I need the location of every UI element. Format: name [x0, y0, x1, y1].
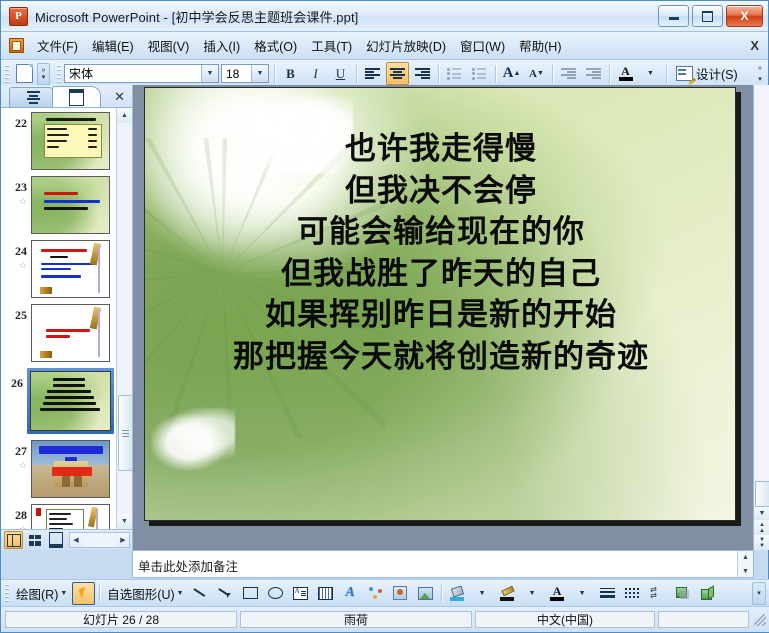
chevron-down-icon: ▼: [60, 590, 67, 597]
draw-font-color-dropdown[interactable]: ▼: [571, 582, 594, 605]
align-right-icon: [415, 68, 430, 80]
separator: [666, 65, 667, 83]
status-design-template: 雨荷: [240, 611, 472, 628]
menu-item-format[interactable]: 格式(O): [247, 32, 304, 59]
arrow-style-button[interactable]: ⇄⇄: [646, 582, 669, 605]
diagram-icon: [369, 587, 382, 599]
bullets-icon: [472, 68, 487, 80]
close-document-button[interactable]: X: [750, 38, 759, 53]
scrollbar-thumb[interactable]: [118, 395, 132, 471]
normal-view-icon: [7, 534, 21, 547]
bold-button[interactable]: B: [279, 62, 302, 85]
scroll-right-icon[interactable]: ▶: [117, 536, 129, 544]
separator: [441, 584, 442, 602]
picture-icon: [418, 587, 433, 600]
menu-bar: 文件(F) 编辑(E) 视图(V) 插入(I) 格式(O) 工具(T) 幻灯片放…: [1, 32, 768, 60]
minimize-button[interactable]: [658, 5, 689, 27]
align-left-icon: [365, 68, 380, 80]
align-right-button[interactable]: [411, 62, 434, 85]
separator: [495, 65, 496, 83]
line-tool-button[interactable]: [189, 582, 212, 605]
oval-tool-button[interactable]: [264, 582, 287, 605]
autoshapes-menu-button[interactable]: 自选图形(U) ▼: [103, 582, 187, 605]
notes-scroll-down-icon[interactable]: ▼: [738, 565, 753, 577]
slide-number: 24: [15, 244, 27, 258]
formatting-toolbar: »▾ 宋体 ▼ 18 ▼ B I U A▲ A▼ A: [1, 60, 768, 88]
toolbar-options-button[interactable]: »▾: [37, 63, 50, 85]
numbering-icon: [447, 68, 462, 80]
separator: [552, 65, 553, 83]
font-size-value: 18: [222, 67, 251, 81]
slide-scroll-down-icon[interactable]: ▼: [754, 506, 769, 520]
slide-thumbnail[interactable]: [31, 112, 110, 170]
menu-item-window[interactable]: 窗口(W): [453, 32, 512, 59]
previous-slide-button[interactable]: ▲▲: [754, 520, 769, 535]
increase-indent-icon: [586, 68, 601, 80]
font-color-button[interactable]: A: [614, 62, 637, 85]
font-name-combo[interactable]: 宋体 ▼: [64, 64, 219, 83]
close-button[interactable]: X: [726, 5, 763, 27]
slide-sorter-icon: [29, 535, 41, 546]
shadow-style-button[interactable]: [671, 582, 694, 605]
bold-icon: B: [286, 66, 295, 82]
thumbnail-item-24[interactable]: 24 ☆: [1, 240, 116, 298]
main-body: ✕ 22: [1, 85, 769, 550]
clip-art-icon: [393, 586, 407, 600]
menu-item-slideshow[interactable]: 幻灯片放映(D): [359, 32, 453, 59]
animation-star-icon: ☆: [3, 260, 27, 270]
thumbnail-meta: 23 ☆: [3, 176, 31, 206]
powerpoint-icon: P: [9, 7, 28, 26]
shadow-icon: [676, 587, 689, 599]
notes-scrollbar[interactable]: ▲ ▼: [737, 551, 753, 577]
line-style-button[interactable]: [596, 582, 619, 605]
line-color-icon: [500, 586, 514, 601]
notes-placeholder[interactable]: 单击此处添加备注: [133, 551, 238, 575]
font-name-dropdown-icon[interactable]: ▼: [201, 65, 218, 82]
drawing-toolbar-overflow-button[interactable]: ▾: [752, 582, 766, 605]
resize-grip-icon[interactable]: [754, 614, 766, 626]
menu-item-view[interactable]: 视图(V): [141, 32, 197, 59]
status-language: 中文(中国): [475, 611, 655, 628]
line-color-button[interactable]: [496, 582, 519, 605]
design-icon: [676, 66, 693, 81]
draw-menu-label: 绘图(R): [16, 584, 58, 603]
slide-thumbnail[interactable]: [31, 240, 110, 298]
notes-pane[interactable]: 单击此处添加备注 ▲ ▼: [132, 550, 754, 578]
insert-picture-button[interactable]: [414, 582, 437, 605]
align-center-icon: [390, 68, 405, 80]
increase-font-size-button[interactable]: A▲: [500, 62, 523, 85]
scroll-up-icon[interactable]: ▲: [117, 108, 132, 123]
separator: [274, 65, 275, 83]
slide-thumbnail-selected[interactable]: [27, 368, 114, 434]
line-color-dropdown[interactable]: ▼: [521, 582, 544, 605]
slide-pane-scrollbar[interactable]: ▼ ▲▲ ▼▼: [753, 85, 769, 550]
align-center-button[interactable]: [386, 62, 409, 85]
menu-item-insert[interactable]: 插入(I): [196, 32, 247, 59]
document-control-icon[interactable]: [7, 37, 25, 55]
separator: [438, 65, 439, 83]
thumbnail-item-23[interactable]: 23 ☆: [1, 176, 116, 234]
maximize-button[interactable]: [692, 5, 723, 27]
animation-star-icon: ☆: [3, 524, 27, 529]
decrease-font-size-button[interactable]: A▼: [525, 62, 548, 85]
oval-icon: [268, 587, 283, 599]
thumbnail-meta: 27 ☆: [3, 440, 31, 470]
thumbnail-item-27[interactable]: 27 ☆: [1, 440, 116, 498]
line-style-icon: [600, 588, 615, 598]
thumbnail-meta: 22: [3, 112, 31, 132]
thumbnail-item-28[interactable]: 28 ☆: [1, 504, 116, 529]
increase-indent-button[interactable]: [582, 62, 605, 85]
font-size-dropdown-icon[interactable]: ▼: [251, 65, 268, 82]
fill-color-dropdown[interactable]: ▼: [471, 582, 494, 605]
numbering-button[interactable]: [443, 62, 466, 85]
font-color-icon: A: [619, 65, 633, 83]
drawing-toolbar: 绘图(R) ▼ 自选图形(U) ▼ A ▼ ▼ A ▼ ⇄⇄ ▾: [1, 579, 769, 607]
slide-number: 26: [11, 376, 23, 390]
view-buttons-row: ◀ ▶: [1, 529, 132, 550]
thumbnail-meta: 25: [3, 304, 31, 324]
select-objects-button[interactable]: [72, 582, 95, 605]
slides-outline-pane: ✕ 22: [1, 85, 133, 550]
chevron-down-icon: ▼: [529, 590, 536, 597]
thumbnail-meta: 26: [1, 368, 27, 392]
slide-number: 28: [15, 508, 27, 522]
menu-item-file[interactable]: 文件(F): [30, 32, 85, 59]
scrollbar-track[interactable]: [117, 123, 132, 514]
slide-number: 27: [15, 444, 27, 458]
poem-line-2: 但我决不会停: [145, 170, 736, 212]
separator: [609, 65, 610, 83]
fill-color-icon: [450, 586, 464, 601]
font-color-icon: A: [550, 584, 564, 602]
menu-item-help[interactable]: 帮助(H): [512, 32, 568, 59]
chevron-down-icon: ▼: [647, 70, 654, 77]
insert-diagram-button[interactable]: [364, 582, 387, 605]
scroll-left-icon[interactable]: ◀: [70, 536, 82, 544]
thumbnail-meta: 24 ☆: [3, 240, 31, 270]
current-slide[interactable]: 也许我走得慢 但我决不会停 可能会输给现在的你 但我战胜了昨天的自己 如果挥别昨…: [144, 87, 736, 521]
animation-star-icon: ☆: [3, 460, 27, 470]
underline-button[interactable]: U: [329, 62, 352, 85]
menu-item-edit[interactable]: 编辑(E): [85, 32, 141, 59]
poem-line-1: 也许我走得慢: [145, 128, 736, 170]
vertical-text-box-icon: [318, 587, 333, 600]
wordart-button[interactable]: A: [339, 582, 362, 605]
separator: [99, 584, 100, 602]
align-left-button[interactable]: [361, 62, 384, 85]
dash-style-button[interactable]: [621, 582, 644, 605]
slide-scroll-track[interactable]: [754, 85, 769, 506]
slide-text-placeholder[interactable]: 也许我走得慢 但我决不会停 可能会输给现在的你 但我战胜了昨天的自己 如果挥别昨…: [145, 128, 736, 377]
poem-line-3: 可能会输给现在的你: [145, 211, 736, 253]
decrease-font-icon: A: [529, 68, 537, 80]
slide-number: 23: [15, 180, 27, 194]
decrease-indent-icon: [561, 68, 576, 80]
design-button[interactable]: 设计(S): [670, 60, 744, 87]
dash-style-icon: [625, 588, 640, 598]
bullets-button[interactable]: [468, 62, 491, 85]
scroll-down-icon[interactable]: ▼: [117, 514, 132, 529]
close-icon: X: [740, 10, 748, 22]
thumbnail-list: 22: [1, 108, 116, 529]
chevron-down-icon: ▼: [579, 590, 586, 597]
thumbnail-meta: 28 ☆: [3, 504, 31, 529]
outline-icon: [27, 90, 40, 106]
line-icon: [193, 587, 207, 599]
thumbnail-scrollbar[interactable]: ▲ ▼: [116, 108, 132, 529]
vertical-textbox-button[interactable]: [314, 582, 337, 605]
tab-outline[interactable]: [9, 87, 58, 107]
chevron-down-icon: ▼: [177, 590, 184, 597]
thumbnail-panel: 22: [1, 107, 132, 529]
title-bar: P Microsoft PowerPoint - [初中学会反思主题班会课件.p…: [1, 1, 768, 32]
animation-star-icon: ☆: [3, 196, 27, 206]
rectangle-tool-button[interactable]: [239, 582, 262, 605]
pane-tab-row: ✕: [1, 85, 132, 107]
chevron-down-icon: ▼: [479, 590, 486, 597]
text-box-icon: [293, 587, 308, 600]
textbox-tool-button[interactable]: [289, 582, 312, 605]
hscroll-track[interactable]: [82, 533, 117, 547]
menu-item-tools[interactable]: 工具(T): [304, 32, 359, 59]
italic-icon: I: [313, 66, 317, 82]
status-slide-counter: 幻灯片 26 / 28: [5, 611, 237, 628]
decrease-indent-button[interactable]: [557, 62, 580, 85]
slide-thumbnail[interactable]: [31, 176, 110, 234]
underline-icon: U: [336, 66, 345, 82]
slide-thumbnail[interactable]: [31, 440, 110, 498]
slide-scroll-thumb[interactable]: [755, 481, 769, 507]
insert-clipart-button[interactable]: [389, 582, 412, 605]
slide-sorter-view-button[interactable]: [25, 531, 44, 549]
separator: [356, 65, 357, 83]
window-controls: X: [658, 5, 763, 27]
slides-icon: [69, 89, 84, 106]
arrow-style-icon: ⇄⇄: [650, 587, 664, 599]
next-slide-button[interactable]: ▼▼: [754, 535, 769, 550]
draw-menu-button[interactable]: 绘图(R) ▼: [12, 582, 71, 605]
fill-color-button[interactable]: [446, 582, 469, 605]
drawing-toolbar-grip[interactable]: [5, 584, 9, 602]
formatting-toolbar-overflow-button[interactable]: »▾: [754, 63, 766, 84]
window-title: Microsoft PowerPoint - [初中学会反思主题班会课件.ppt…: [35, 7, 358, 26]
wordart-icon: A: [345, 587, 354, 599]
thumbnail-hscrollbar[interactable]: ◀ ▶: [69, 532, 130, 548]
font-color-dropdown[interactable]: ▼: [639, 62, 662, 85]
poem-line-5: 如果挥别昨日是新的开始: [145, 294, 736, 336]
3d-icon: [701, 587, 714, 599]
close-pane-button[interactable]: ✕: [114, 89, 125, 105]
arrow-icon: [218, 587, 232, 599]
draw-font-color-button[interactable]: A: [546, 582, 569, 605]
poem-line-6: 那把握今天就将创造新的奇迹: [145, 336, 736, 378]
new-document-button[interactable]: [13, 62, 36, 85]
arrow-tool-button[interactable]: [214, 582, 237, 605]
autoshapes-label: 自选图形(U): [107, 584, 174, 603]
status-bar: 幻灯片 26 / 28 雨荷 中文(中国): [1, 607, 769, 632]
slide-show-button[interactable]: [46, 531, 65, 549]
thumbnail-item-25[interactable]: 25: [1, 304, 116, 362]
poem-line-4: 但我战胜了昨天的自己: [145, 253, 736, 295]
slide-show-icon: [49, 532, 63, 548]
thumbnail-item-26[interactable]: 26: [1, 368, 116, 434]
thumbnail-item-22[interactable]: 22: [1, 112, 116, 170]
notes-scroll-up-icon[interactable]: ▲: [738, 551, 753, 563]
font-name-value: 宋体: [65, 65, 201, 82]
slide-thumbnail[interactable]: [31, 504, 110, 529]
slide-number: 22: [15, 116, 27, 130]
slide-thumbnail[interactable]: [31, 304, 110, 362]
new-document-icon: [16, 64, 33, 83]
3d-style-button[interactable]: [696, 582, 719, 605]
rectangle-icon: [243, 587, 258, 599]
formatting-toolbar-grip[interactable]: [57, 65, 61, 83]
increase-font-icon: A: [503, 65, 514, 82]
tab-slides[interactable]: [52, 86, 101, 107]
lotus-flower-bottom-icon: [151, 408, 235, 470]
font-size-combo[interactable]: 18 ▼: [221, 64, 269, 83]
minimize-icon: [669, 17, 679, 20]
arrow-cursor-icon: [79, 587, 89, 599]
toolbar-grip[interactable]: [5, 65, 9, 83]
normal-view-button[interactable]: [4, 531, 23, 549]
maximize-icon: [702, 11, 713, 22]
italic-button[interactable]: I: [304, 62, 327, 85]
slide-number: 25: [15, 308, 27, 322]
design-label: 设计(S): [696, 64, 738, 83]
slide-edit-area[interactable]: 也许我走得慢 但我决不会停 可能会输给现在的你 但我战胜了昨天的自己 如果挥别昨…: [133, 85, 753, 550]
status-extra: [658, 611, 749, 628]
powerpoint-window: P Microsoft PowerPoint - [初中学会反思主题班会课件.p…: [0, 0, 769, 633]
